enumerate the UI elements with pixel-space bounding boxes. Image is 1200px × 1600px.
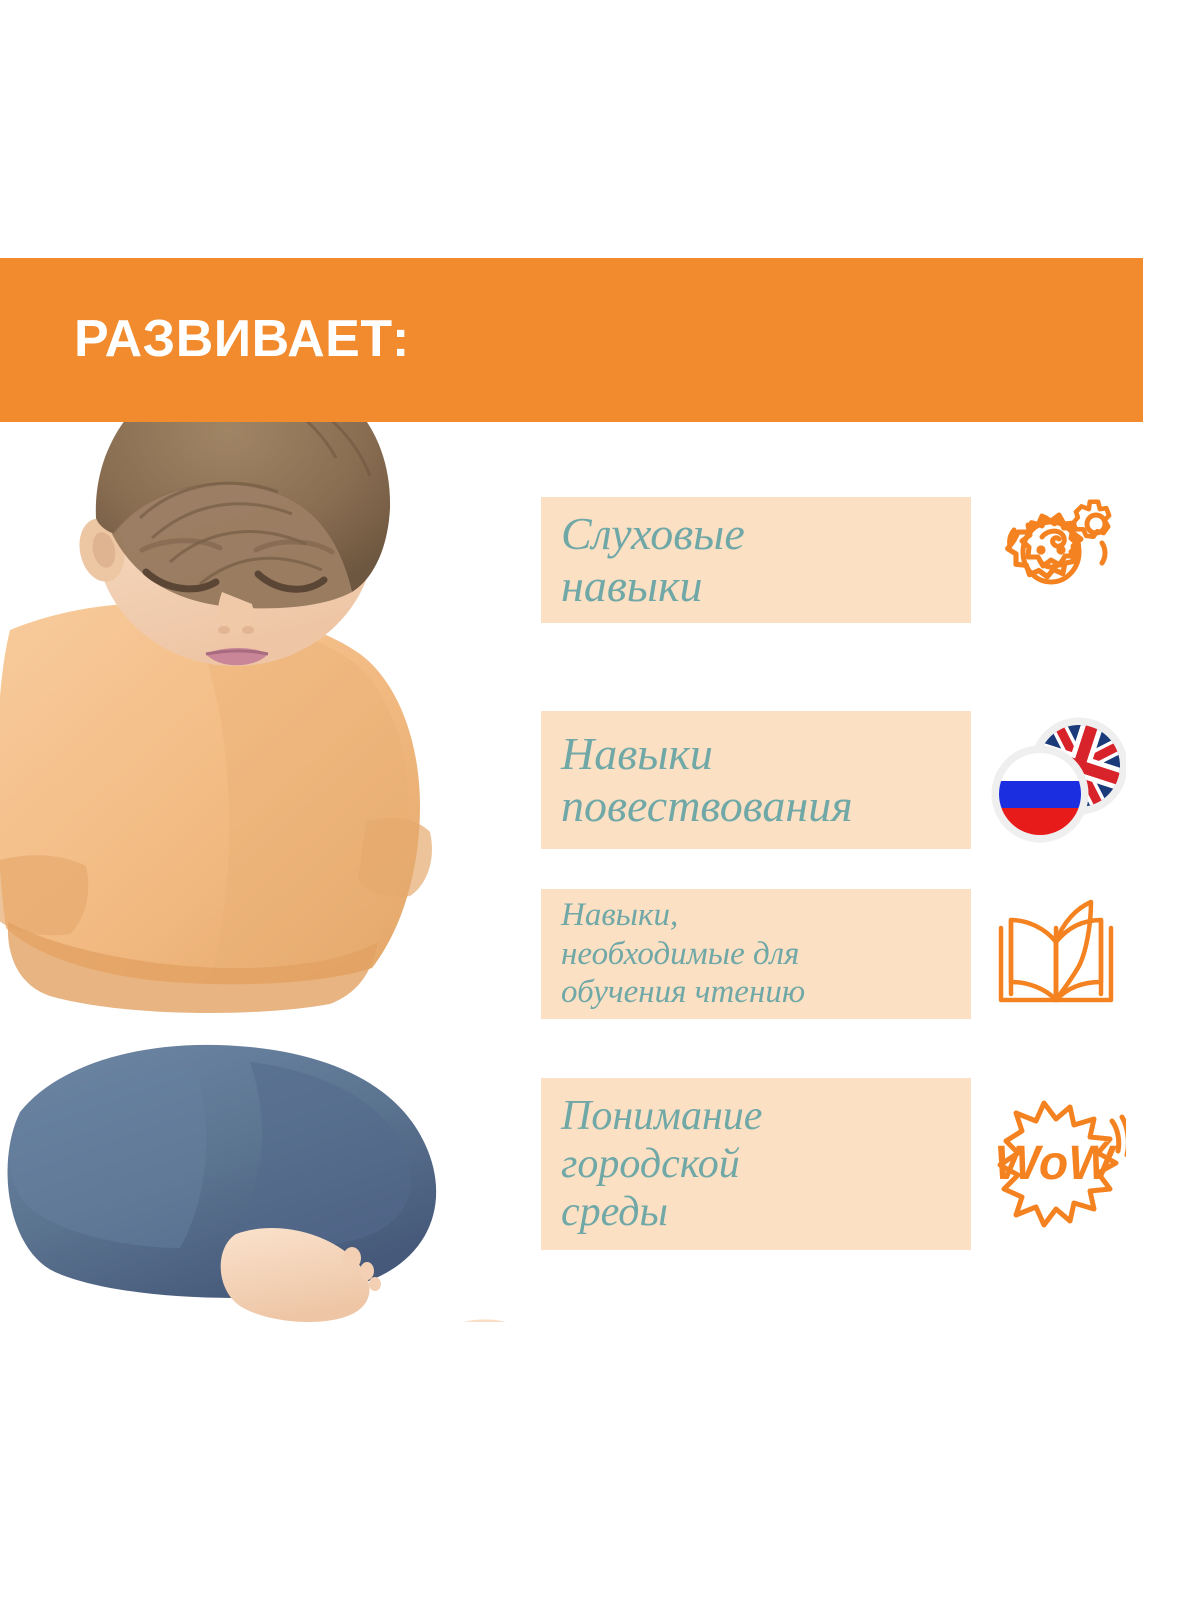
feature-chip: Навыки повествования bbox=[541, 711, 971, 849]
feature-row-auditory-skills: Слуховые навыки bbox=[541, 497, 1161, 623]
feature-icon-slot bbox=[971, 497, 1141, 623]
feature-row-city-awareness: Понимание городской среды WoW bbox=[541, 1078, 1161, 1250]
baby-with-toy-book-illustration: A B C bbox=[0, 422, 545, 1322]
product-photo: A B C bbox=[0, 422, 545, 1322]
baby-face-gear-icon bbox=[990, 497, 1122, 623]
feature-label: Навыки повествования bbox=[541, 716, 853, 843]
feature-icon-slot: WoW bbox=[971, 1078, 1141, 1250]
feature-icon-slot bbox=[971, 889, 1141, 1019]
page-title: РАЗВИВАЕТ: bbox=[74, 313, 410, 365]
wow-text: WoW bbox=[994, 1137, 1117, 1190]
feature-label: Понимание городской среды bbox=[541, 1080, 762, 1249]
feature-label: Слуховые навыки bbox=[541, 496, 745, 623]
promo-page: РАЗВИВАЕТ: bbox=[0, 0, 1200, 1600]
open-book-icon bbox=[993, 898, 1119, 1010]
feature-list: Слуховые навыки bbox=[541, 497, 1161, 1267]
feature-icon-slot bbox=[971, 711, 1141, 849]
russian-uk-flags-icon bbox=[986, 714, 1126, 846]
feature-label: Навыки, необходимые для обучения чтению bbox=[541, 884, 805, 1025]
feature-chip: Слуховые навыки bbox=[541, 497, 971, 623]
header-banner: РАЗВИВАЕТ: bbox=[0, 258, 1143, 422]
feature-row-pre-reading-skills: Навыки, необходимые для обучения чтению bbox=[541, 889, 1161, 1019]
feature-chip: Навыки, необходимые для обучения чтению bbox=[541, 889, 971, 1019]
feature-row-storytelling-skills: Навыки повествования bbox=[541, 711, 1161, 849]
wow-starburst-icon: WoW bbox=[986, 1097, 1126, 1231]
feature-chip: Понимание городской среды bbox=[541, 1078, 971, 1250]
